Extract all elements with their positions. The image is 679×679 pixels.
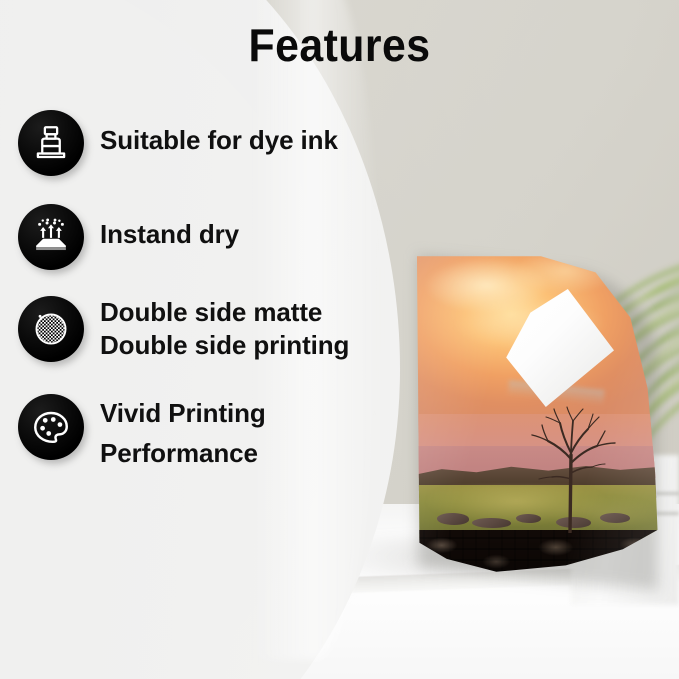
feature-item-dye-ink: Suitable for dye ink <box>18 110 438 176</box>
feature-label: Vivid Printing Performance <box>100 394 266 473</box>
infographic-canvas: Features Suitable for dye ink <box>0 0 679 679</box>
page-title: Features <box>24 18 655 72</box>
feature-item-vivid-printing: Vivid Printing Performance <box>18 394 438 473</box>
feature-label: Double side matte Double side printing <box>100 296 349 362</box>
feature-label-line: Double side matte <box>100 296 349 329</box>
matte-texture-icon <box>18 296 84 362</box>
feature-label: Instand dry <box>100 204 239 250</box>
feature-label-line: Performance <box>100 434 266 474</box>
feature-label-line: Suitable for dye ink <box>100 125 338 156</box>
ink-bottle-icon <box>18 110 84 176</box>
feature-item-instant-dry: Instand dry <box>18 204 438 270</box>
feature-list: Suitable for dye ink <box>18 110 438 473</box>
photo-tree <box>526 401 618 533</box>
instant-dry-icon <box>18 204 84 270</box>
feature-item-double-side-matte: Double side matte Double side printing <box>18 296 438 362</box>
feature-label-line: Vivid Printing <box>100 394 266 434</box>
feature-label: Suitable for dye ink <box>100 110 338 156</box>
paint-palette-icon <box>18 394 84 460</box>
feature-label-line: Double side printing <box>100 329 349 362</box>
feature-label-line: Instand dry <box>100 219 239 250</box>
curled-photo-print <box>412 253 670 583</box>
